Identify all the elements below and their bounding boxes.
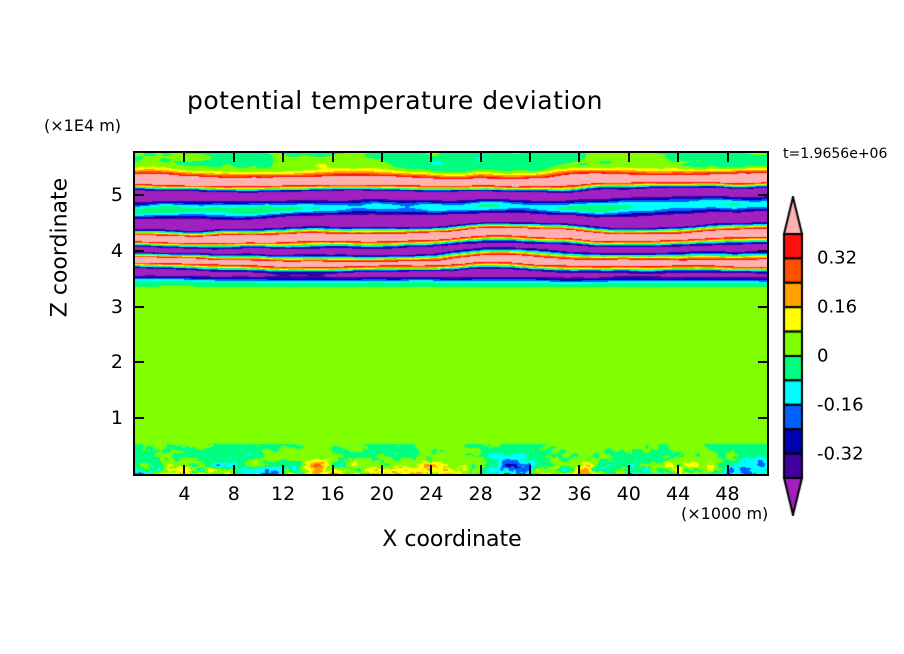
y-tick-mark-right [758, 250, 767, 252]
x-tick-mark [727, 465, 729, 474]
x-axis-unit-label: (×1000 m) [681, 504, 768, 523]
x-tick-mark-top [233, 153, 235, 162]
colorbar-tick-label: -0.16 [817, 394, 864, 415]
y-tick-label: 4 [91, 240, 123, 262]
colorbar-tick-label: -0.32 [817, 443, 864, 464]
x-tick-label: 24 [419, 483, 443, 505]
x-tick-mark [282, 465, 284, 474]
x-tick-mark-top [677, 153, 679, 162]
y-tick-mark [135, 250, 144, 252]
x-tick-mark-top [183, 153, 185, 162]
y-tick-label: 3 [91, 296, 123, 318]
x-tick-mark [480, 465, 482, 474]
x-tick-mark [233, 465, 235, 474]
x-tick-mark-top [480, 153, 482, 162]
y-tick-mark [135, 194, 144, 196]
x-axis-label: X coordinate [0, 527, 904, 552]
y-tick-mark [135, 306, 144, 308]
x-tick-mark [183, 465, 185, 474]
x-tick-label: 40 [617, 483, 641, 505]
colorbar-tick-label: 0.32 [817, 248, 857, 269]
colorbar-tick-label: 0 [817, 346, 828, 367]
x-tick-label: 12 [271, 483, 295, 505]
colorbar-gradient [781, 196, 805, 516]
x-tick-label: 28 [469, 483, 493, 505]
page-title: potential temperature deviation [0, 86, 790, 115]
x-tick-label: 36 [567, 483, 591, 505]
x-tick-mark-top [282, 153, 284, 162]
x-tick-mark-top [381, 153, 383, 162]
x-tick-label: 20 [370, 483, 394, 505]
x-tick-mark [529, 465, 531, 474]
colorbar-tick-label: 0.16 [817, 297, 857, 318]
y-tick-mark-right [758, 194, 767, 196]
y-tick-mark-right [758, 306, 767, 308]
x-tick-mark [578, 465, 580, 474]
x-tick-mark [381, 465, 383, 474]
x-tick-mark-top [529, 153, 531, 162]
y-tick-mark-right [758, 417, 767, 419]
plot-area [133, 151, 769, 476]
x-tick-label: 48 [715, 483, 739, 505]
figure-canvas: potential temperature deviation (×1E4 m)… [0, 0, 904, 654]
y-tick-mark [135, 361, 144, 363]
x-tick-mark [628, 465, 630, 474]
x-tick-mark [332, 465, 334, 474]
x-tick-mark-top [430, 153, 432, 162]
time-annotation: t=1.9656e+06 [783, 146, 887, 162]
x-tick-label: 4 [178, 483, 190, 505]
y-tick-mark [135, 417, 144, 419]
y-tick-label: 2 [91, 351, 123, 373]
y-tick-label: 5 [91, 184, 123, 206]
y-tick-mark-right [758, 361, 767, 363]
y-tick-label: 1 [91, 407, 123, 429]
x-tick-mark-top [727, 153, 729, 162]
y-axis-label: Z coordinate [48, 148, 73, 348]
x-tick-mark-top [332, 153, 334, 162]
colorbar [781, 196, 805, 516]
x-tick-mark-top [578, 153, 580, 162]
x-tick-mark [677, 465, 679, 474]
x-tick-label: 8 [228, 483, 240, 505]
x-tick-label: 44 [666, 483, 690, 505]
x-tick-mark [430, 465, 432, 474]
y-axis-unit-label: (×1E4 m) [44, 116, 121, 135]
x-tick-label: 16 [320, 483, 344, 505]
x-tick-label: 32 [518, 483, 542, 505]
x-tick-mark-top [628, 153, 630, 162]
contour-field [135, 153, 767, 474]
